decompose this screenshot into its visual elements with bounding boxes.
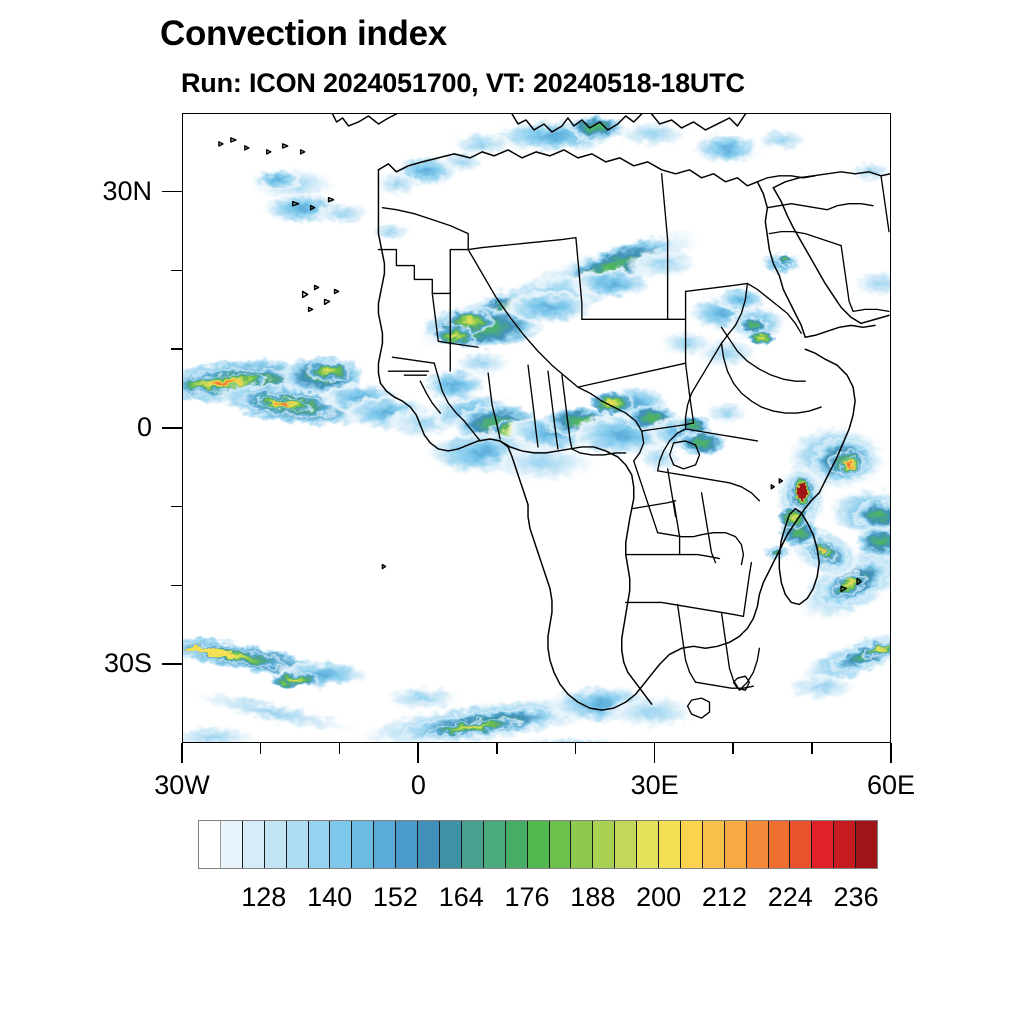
colorbar-cell[interactable]: [506, 821, 528, 868]
y-axis-tick: [171, 506, 182, 507]
colorbar-cell[interactable]: [747, 821, 769, 868]
x-axis-tick: [654, 743, 656, 763]
colorbar-cell[interactable]: [396, 821, 418, 868]
colorbar-cell[interactable]: [637, 821, 659, 868]
x-axis-label: 30W: [122, 772, 242, 799]
colorbar-cell[interactable]: [199, 821, 221, 868]
y-axis-label: 30N: [12, 178, 152, 205]
y-axis-tick: [171, 270, 182, 271]
page-title: Convection index: [160, 16, 447, 51]
x-axis-tick: [181, 743, 183, 763]
figure-root: Convection index Run: ICON 2024051700, V…: [0, 0, 1024, 1024]
colorbar-cell[interactable]: [681, 821, 703, 868]
colorbar-cell[interactable]: [418, 821, 440, 868]
x-axis-tick: [811, 743, 812, 754]
colorbar-cell[interactable]: [243, 821, 265, 868]
x-axis-label: 60E: [831, 772, 951, 799]
colorbar-cell[interactable]: [528, 821, 550, 868]
y-axis-tick: [162, 191, 182, 193]
colorbar-cell[interactable]: [790, 821, 812, 868]
colorbar-cell[interactable]: [834, 821, 856, 868]
x-axis-tick: [890, 743, 892, 763]
colorbar-cell[interactable]: [703, 821, 725, 868]
y-axis-label: 0: [12, 414, 152, 441]
colorbar-cells[interactable]: [198, 820, 878, 869]
x-axis-tick: [417, 743, 419, 763]
colorbar-cell[interactable]: [615, 821, 637, 868]
colorbar-cell[interactable]: [593, 821, 615, 868]
colorbar-cell[interactable]: [769, 821, 791, 868]
colorbar-cell[interactable]: [265, 821, 287, 868]
colorbar-cell[interactable]: [484, 821, 506, 868]
x-axis-tick: [339, 743, 340, 754]
map-plot-area[interactable]: [182, 113, 891, 743]
colorbar-cell[interactable]: [221, 821, 243, 868]
colorbar-cell[interactable]: [550, 821, 572, 868]
figure-subtitle: Run: ICON 2024051700, VT: 20240518-18UTC: [181, 70, 745, 97]
colorbar-cell[interactable]: [287, 821, 309, 868]
colorbar-cell[interactable]: [440, 821, 462, 868]
colorbar-cell[interactable]: [856, 821, 877, 868]
y-axis-tick: [171, 585, 182, 586]
x-axis-tick: [732, 743, 733, 754]
x-axis-tick: [260, 743, 261, 754]
colorbar-cell[interactable]: [374, 821, 396, 868]
y-axis-tick: [162, 663, 182, 665]
colorbar-cell[interactable]: [309, 821, 331, 868]
x-axis-tick: [496, 743, 497, 754]
map-svg: [183, 114, 890, 742]
colorbar-cell[interactable]: [659, 821, 681, 868]
y-axis-label: 30S: [12, 650, 152, 677]
x-axis-tick: [575, 743, 576, 754]
y-axis-tick: [171, 348, 182, 349]
colorbar-cell[interactable]: [725, 821, 747, 868]
colorbar-tick-label: 236: [816, 884, 896, 911]
colorbar-cell[interactable]: [352, 821, 374, 868]
x-axis-label: 30E: [595, 772, 715, 799]
colorbar-cell[interactable]: [812, 821, 834, 868]
colorbar-cell[interactable]: [462, 821, 484, 868]
colorbar-cell[interactable]: [330, 821, 352, 868]
x-axis-label: 0: [358, 772, 478, 799]
colorbar-cell[interactable]: [571, 821, 593, 868]
colorbar[interactable]: [198, 820, 878, 869]
y-axis-tick: [162, 427, 182, 429]
